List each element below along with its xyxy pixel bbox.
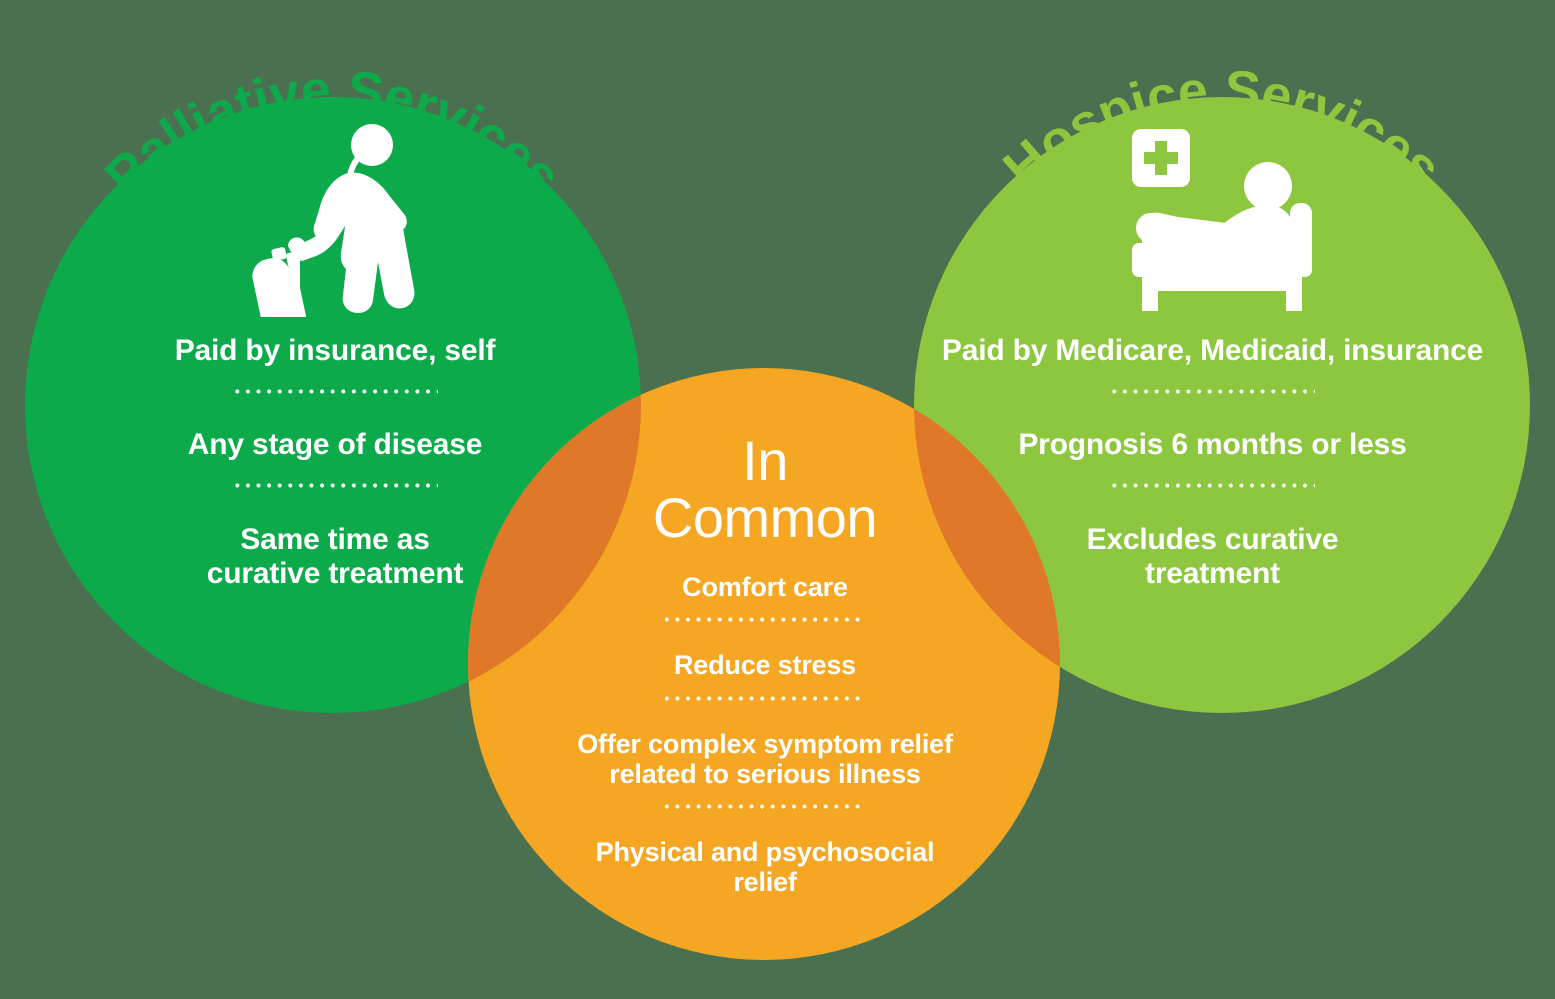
hospice-icon-svg	[1122, 125, 1322, 315]
person-walking-with-oxygen-tank-icon	[248, 122, 418, 322]
patient-in-hospital-bed-icon	[1122, 125, 1322, 320]
palliative-icon-svg	[248, 122, 418, 317]
venn-diagram-canvas: Palliative Services Hospice Services	[0, 0, 1555, 999]
